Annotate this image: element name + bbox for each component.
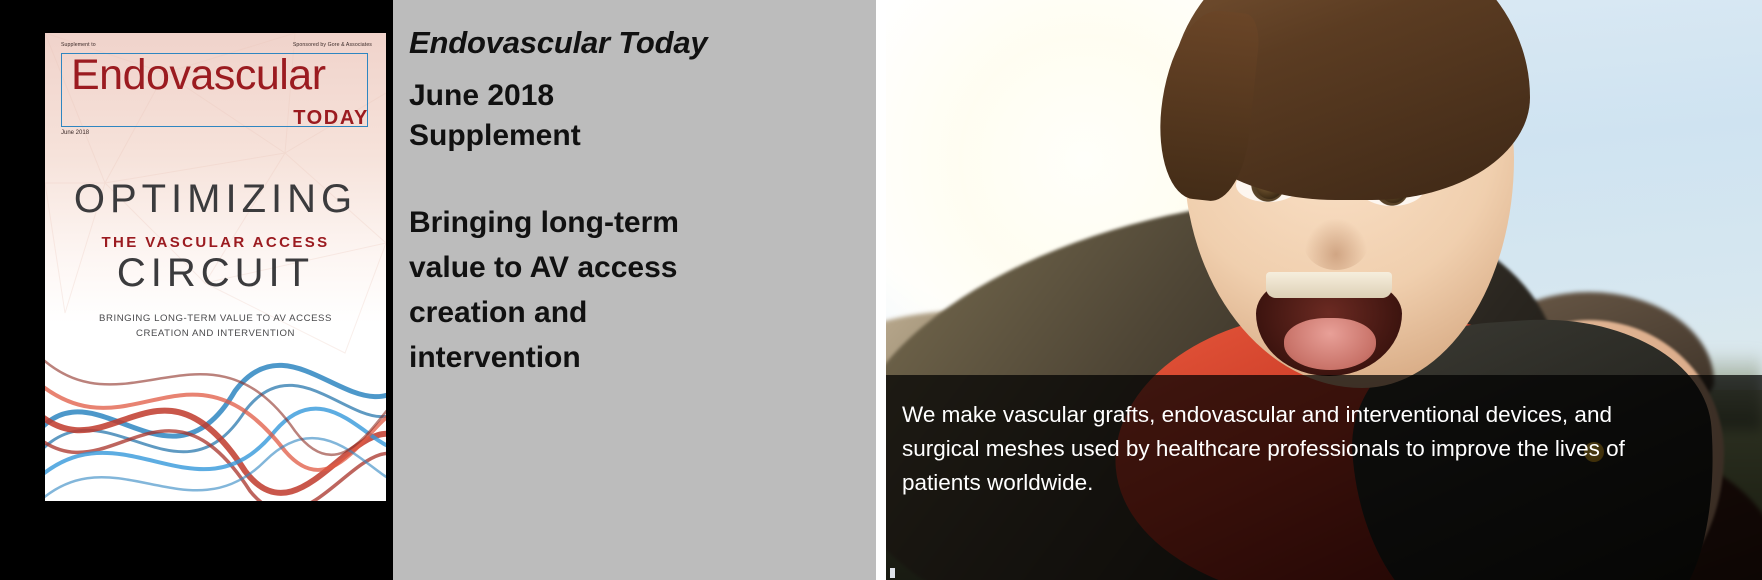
- cover-top-row: Supplement to Sponsored by Gore & Associ…: [61, 42, 372, 48]
- headline: Bringing long-term value to AV access cr…: [409, 200, 759, 380]
- masthead-endovascular: Endovascular: [71, 54, 326, 97]
- issue-block: June 2018 Supplement: [409, 76, 581, 156]
- masthead-today: TODAY: [293, 108, 369, 128]
- issue-date: June 2018: [409, 76, 581, 116]
- photo-panel: We make vascular grafts, endovascular an…: [884, 0, 1762, 580]
- magazine-cover-image[interactable]: Supplement to Sponsored by Gore & Associ…: [45, 33, 386, 501]
- magazine-cover-panel: Supplement to Sponsored by Gore & Associ…: [0, 0, 393, 580]
- cover-subtitle-red: THE VASCULAR ACCESS: [45, 234, 386, 251]
- sponsor-label: Sponsored by Gore & Associates: [293, 42, 372, 48]
- cover-issue-date: June 2018: [61, 130, 89, 136]
- caption-text: We make vascular grafts, endovascular an…: [902, 398, 1672, 500]
- photo-left-divider: [884, 0, 886, 580]
- boy-tongue: [1284, 318, 1376, 370]
- cover-title-circuit: CIRCUIT: [45, 253, 386, 293]
- promo-banner: Supplement to Sponsored by Gore & Associ…: [0, 0, 1762, 580]
- cover-wave-graphic-icon: [45, 331, 386, 501]
- boy-teeth: [1266, 272, 1392, 298]
- cover-title-optimizing: OPTIMIZING: [45, 179, 386, 219]
- boy-nose: [1304, 218, 1368, 270]
- cover-kicker-line-1: BRINGING LONG-TERM VALUE TO AV ACCESS: [45, 311, 386, 326]
- bottom-left-marker: [890, 568, 895, 578]
- supplement-to-label: Supplement to: [61, 42, 96, 48]
- edition-label: Supplement: [409, 116, 581, 156]
- boy-hair: [1170, 0, 1530, 200]
- magazine-name: Endovascular Today: [409, 25, 707, 61]
- text-panel: Endovascular Today June 2018 Supplement …: [393, 0, 876, 580]
